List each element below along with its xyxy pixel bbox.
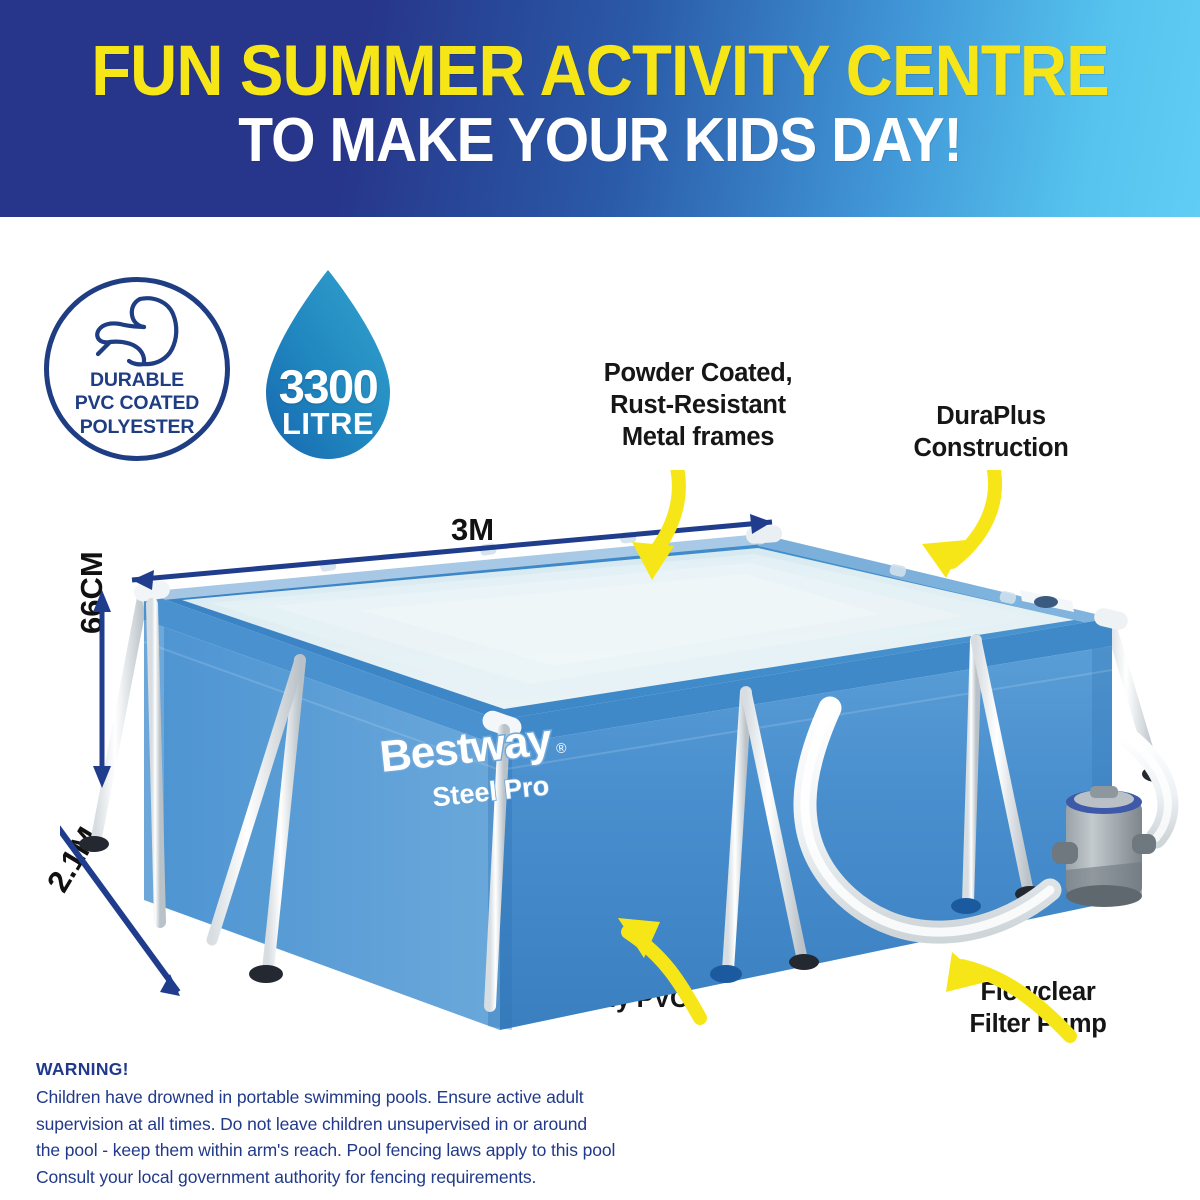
capacity-badge: 3300 LITRE: [252, 268, 404, 463]
callout-powder-coated: Powder Coated, Rust-Resistant Metal fram…: [578, 357, 818, 453]
capacity-unit: LITRE: [252, 408, 404, 439]
capacity-value: 3300: [252, 363, 404, 410]
durable-badge-line-3: POLYESTER: [44, 416, 230, 439]
warning-title: WARNING!: [36, 1059, 696, 1080]
durable-badge-line-1: DURABLE: [44, 369, 230, 392]
filter-pump-unit: [1052, 786, 1156, 907]
durable-polyester-badge: DURABLE PVC COATED POLYESTER: [44, 277, 230, 461]
callout-duraplus: DuraPlus Construction: [886, 400, 1096, 464]
pool-product-illustration: Bestway ® Steel Pro: [60, 470, 1200, 1050]
warning-block: WARNING! Children have drowned in portab…: [36, 1059, 696, 1190]
durable-badge-line-2: PVC COATED: [44, 392, 230, 415]
flexed-bicep-icon: [84, 293, 194, 371]
headline-secondary: TO MAKE YOUR KIDS DAY!: [48, 110, 1152, 172]
durable-badge-text: DURABLE PVC COATED POLYESTER: [44, 369, 230, 439]
headline-primary: FUN SUMMER ACTIVITY CENTRE: [48, 36, 1152, 107]
warning-body: Children have drowned in portable swimmi…: [36, 1084, 696, 1190]
header-banner: FUN SUMMER ACTIVITY CENTRE TO MAKE YOUR …: [0, 0, 1200, 217]
